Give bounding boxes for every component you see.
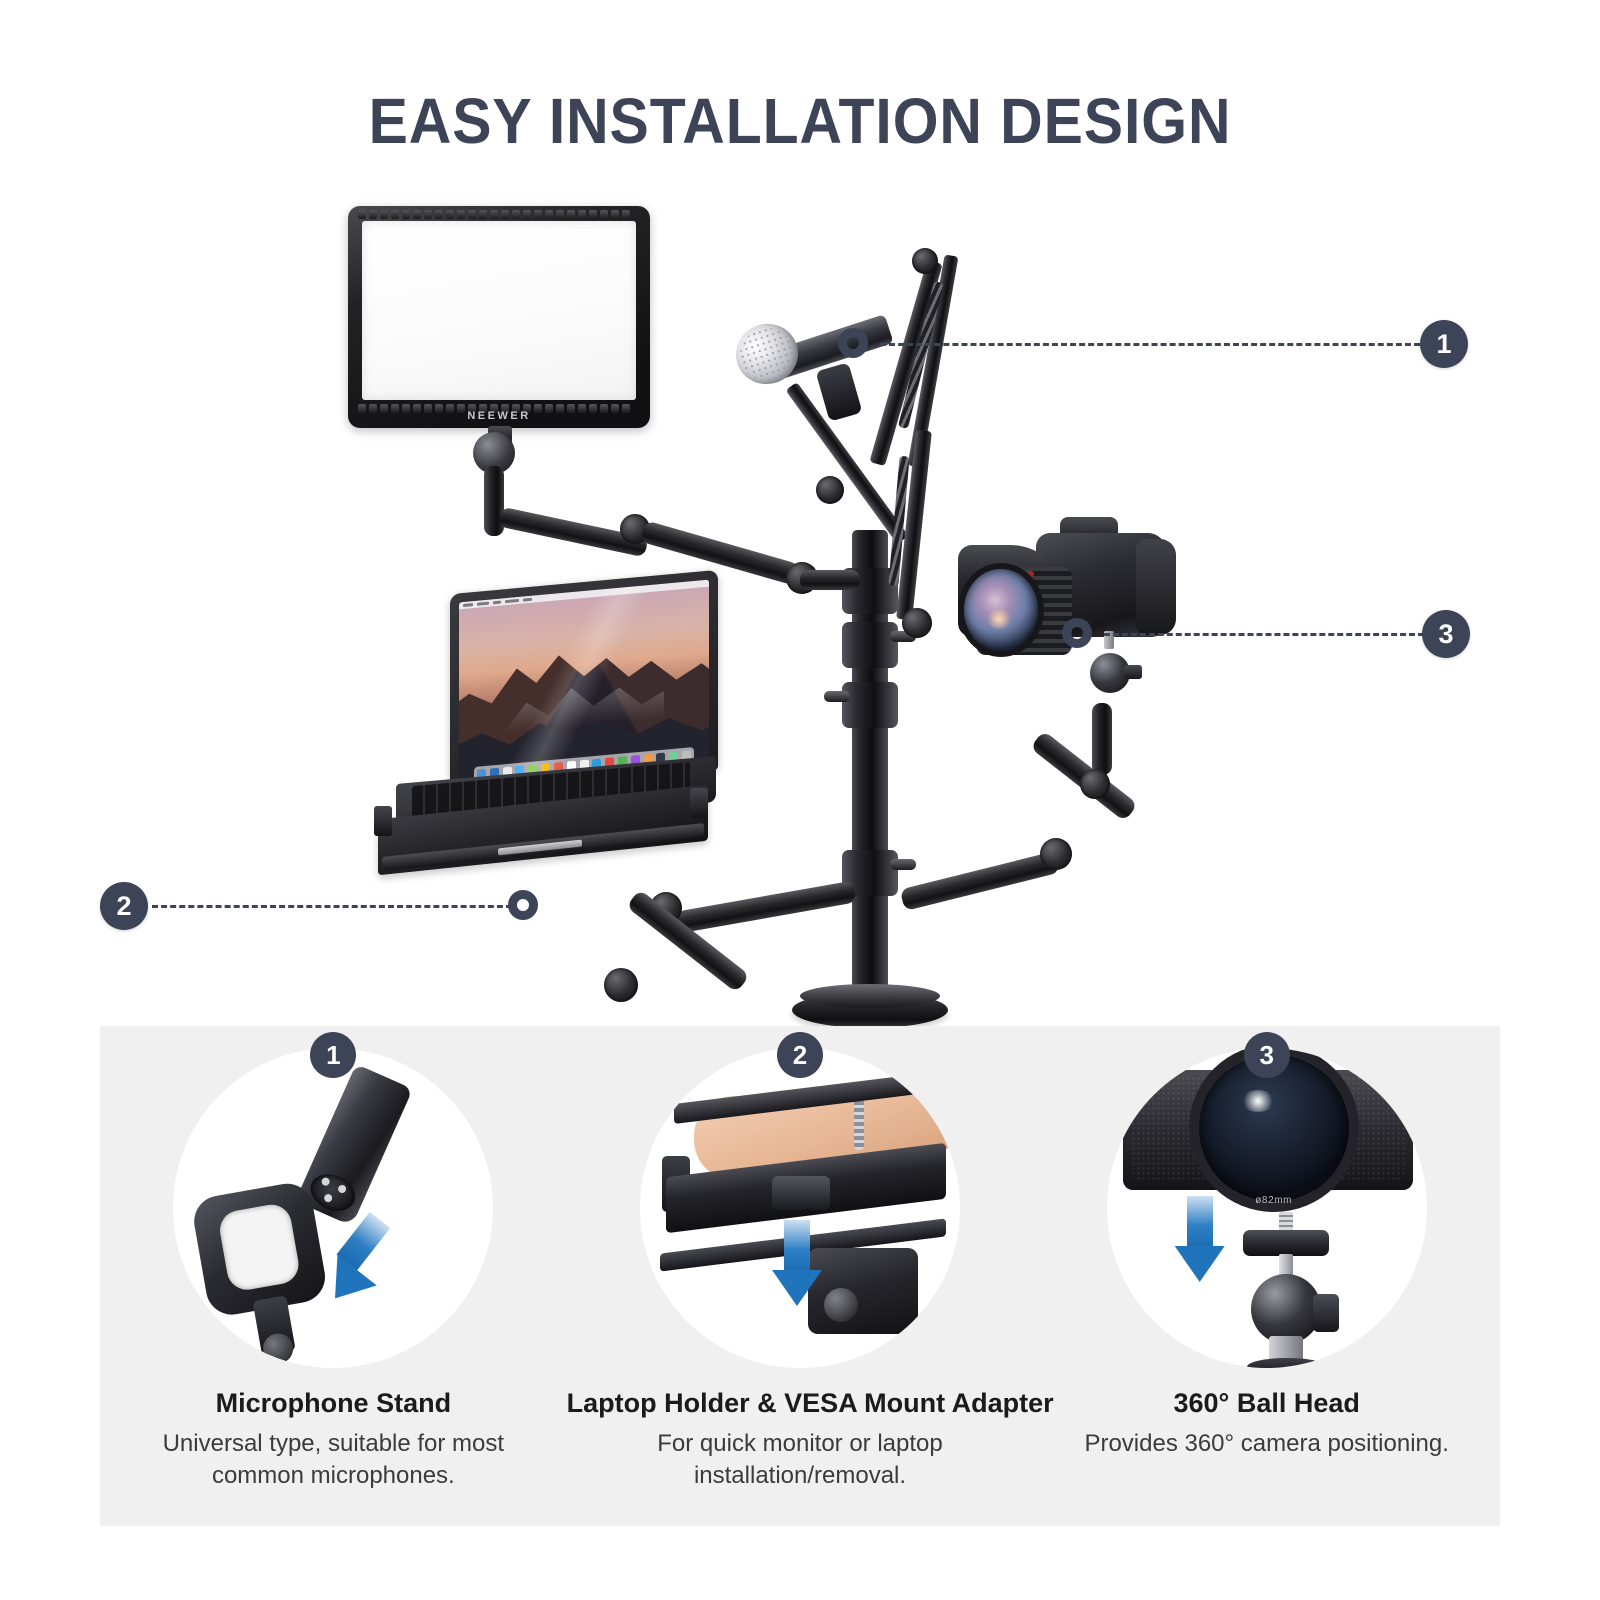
callout-badge-3[interactable]: 3 (1422, 610, 1470, 658)
boom-base-joint (902, 608, 932, 638)
laptop-arm-foot-joint (604, 968, 638, 1002)
camera-arm-vertical (1092, 703, 1112, 775)
infographic-root: EASY INSTALLATION DESIGN (0, 0, 1600, 1600)
camera-grip (1136, 539, 1176, 635)
callout-badge-1[interactable]: 1 (1420, 320, 1468, 368)
camera-arm-elbow (1080, 769, 1110, 799)
laptop-screen (459, 580, 709, 785)
camera-arm-to-post (900, 851, 1061, 911)
microphone-clip-thumbnail (173, 1048, 493, 1368)
boom-top-joint (912, 248, 938, 274)
ball-head-icon (1225, 1212, 1345, 1362)
microphone-clip (815, 362, 862, 421)
screen-glare (459, 580, 709, 785)
feature-title-3: 360° Ball Head (1033, 1388, 1500, 1419)
callout-line-2 (152, 905, 512, 908)
feature-description-2: For quick monitor or laptop installation… (604, 1428, 996, 1491)
dslr-camera-assembly (940, 525, 1210, 825)
laptop-tray-mount-thumbnail (640, 1048, 960, 1368)
ball-head-plate (1243, 1230, 1329, 1256)
stand-collar-light (842, 682, 898, 728)
collar-lever (824, 691, 850, 702)
callout-ring-1 (838, 328, 868, 358)
collar-lever (890, 859, 916, 870)
feature-card-laptop-holder[interactable]: 2 Laptop Holder & VESA Mount Adapter For… (567, 1026, 1034, 1526)
feature-badge-2: 2 (777, 1032, 823, 1078)
boom-elbow-joint (816, 476, 844, 504)
ball-head-sphere (1251, 1274, 1321, 1344)
callout-line-1 (880, 343, 1420, 346)
feature-badge-3: 3 (1244, 1032, 1290, 1078)
led-panel-light: NEEWER (348, 206, 650, 428)
laptop-arm-upper (675, 881, 856, 934)
microphone-grille (728, 316, 806, 392)
feature-panel: 1 Microphone Stand Universal type, suita… (100, 1026, 1500, 1526)
mount-pivot (824, 1288, 858, 1322)
led-vent-top (358, 210, 640, 219)
lens-glint (986, 609, 1012, 629)
hero-illustration: NEEWER (0, 170, 1600, 1030)
led-brand-label: NEEWER (348, 410, 650, 422)
stand-base-top (800, 984, 940, 1008)
mic-clip-icon (190, 1178, 346, 1358)
lens-diameter-label: ø82mm (1199, 1195, 1349, 1206)
ball-head-foot (1247, 1358, 1327, 1368)
clip-opening (217, 1202, 302, 1293)
bracelet-icon (854, 1094, 864, 1150)
tray-clamp-jaw (772, 1176, 830, 1210)
feature-description-1: Universal type, suitable for most common… (137, 1428, 529, 1491)
feature-title-1: Microphone Stand (100, 1388, 567, 1419)
feature-card-microphone-stand[interactable]: 1 Microphone Stand Universal type, suita… (100, 1026, 567, 1526)
callout-line-3 (1104, 633, 1424, 636)
lens-highlight (1241, 1090, 1275, 1112)
feature-description-3: Provides 360° camera positioning. (1071, 1428, 1463, 1460)
vesa-mount-adapter-icon (808, 1248, 918, 1334)
callout-ring-2 (508, 890, 538, 920)
feature-card-list: 1 Microphone Stand Universal type, suita… (100, 1026, 1500, 1526)
page-title: EASY INSTALLATION DESIGN (64, 84, 1536, 158)
callout-ring-3 (1062, 618, 1092, 648)
ball-head-lock-lever (1313, 1294, 1339, 1332)
laptop-tray-ear-right (690, 788, 708, 818)
camera-arm-joint (1040, 838, 1072, 870)
callout-badge-2[interactable]: 2 (100, 882, 148, 930)
feature-card-ball-head[interactable]: ø82mm 3 (1033, 1026, 1500, 1526)
ball-head-lever (1124, 665, 1142, 679)
feature-title-2: Laptop Holder & VESA Mount Adapter (567, 1388, 1034, 1419)
camera-lens (958, 545, 1062, 637)
microphone-mesh (733, 321, 800, 387)
lens-front-element (964, 569, 1038, 651)
laptop-tray-ear-left (374, 806, 392, 836)
camera-ball-head (1082, 643, 1136, 699)
feature-badge-1: 1 (310, 1032, 356, 1078)
led-diffuser (362, 221, 636, 400)
ball-head-thumbnail: ø82mm (1107, 1048, 1427, 1368)
macbook-laptop (378, 582, 718, 882)
